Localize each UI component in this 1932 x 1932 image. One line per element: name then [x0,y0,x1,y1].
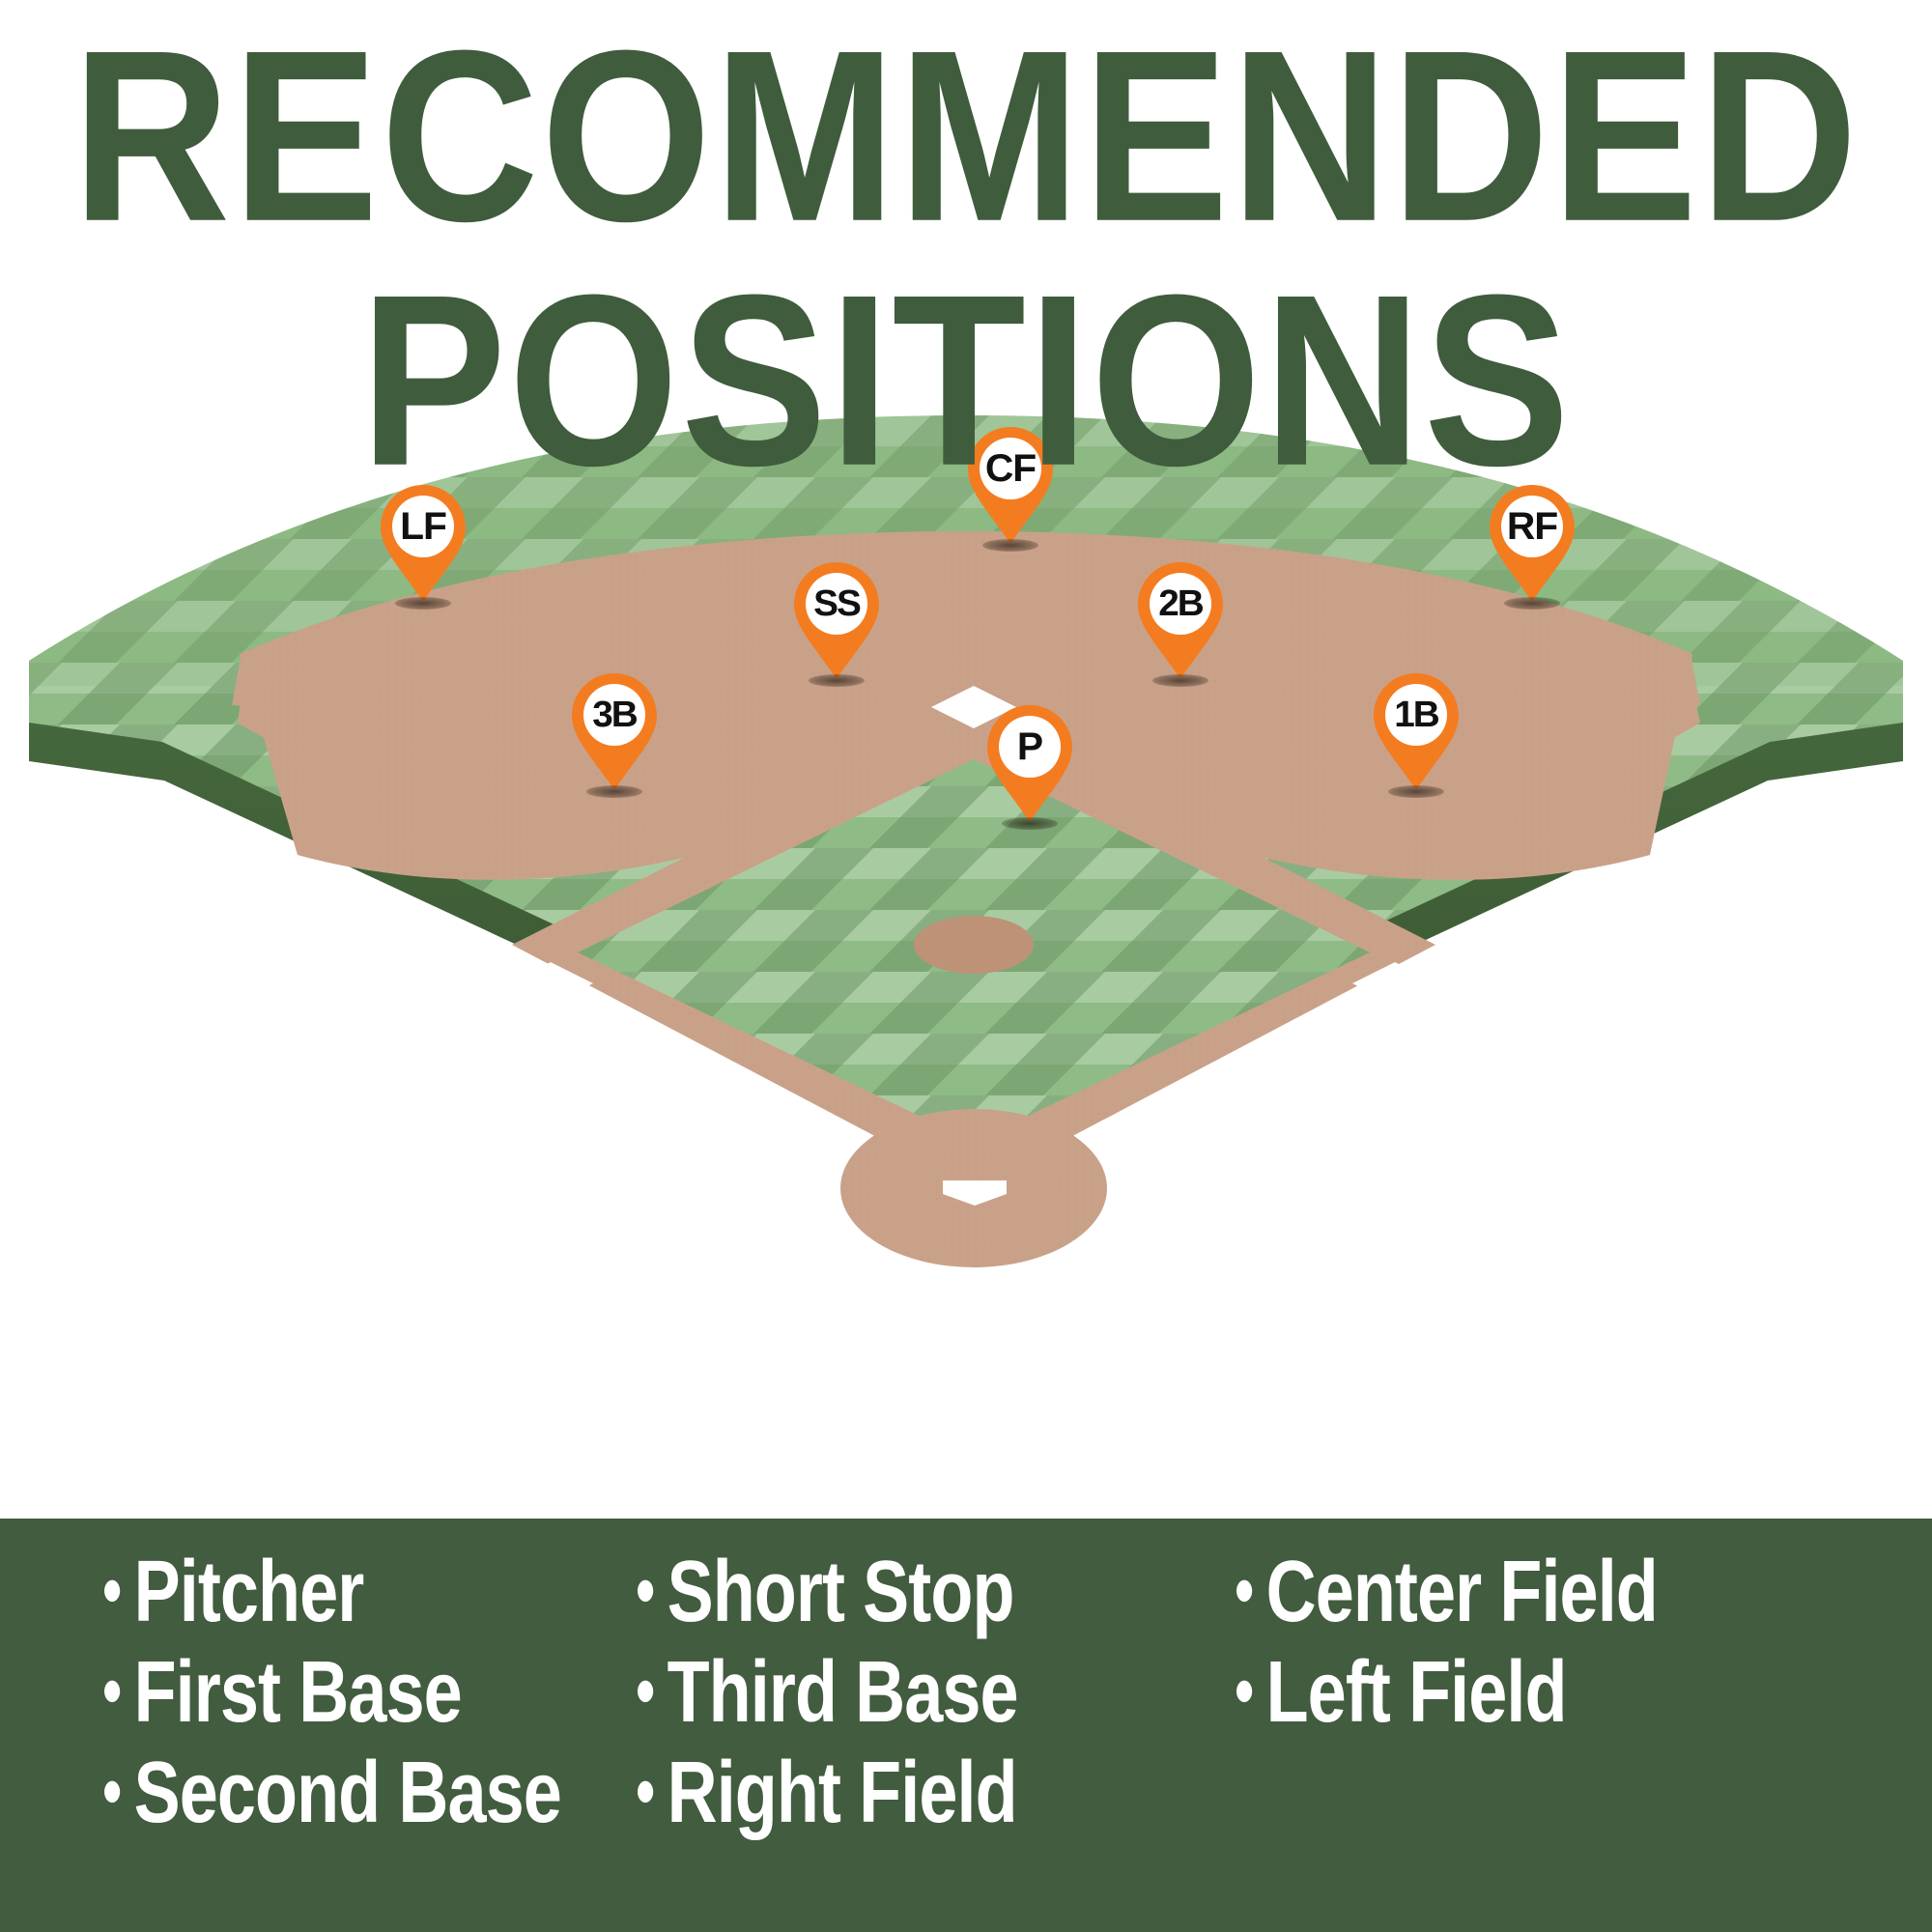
legend-item: Center Field [1236,1536,1862,1648]
position-marker-2b[interactable]: 2B [1136,560,1225,680]
marker-shadow-ss [809,674,865,687]
dot-bullet-icon [638,1580,653,1602]
marker-shadow-cf [982,539,1038,552]
marker-label-2b: 2B [1135,576,1226,632]
dot-bullet-icon [104,1580,120,1602]
marker-shadow-rf [1504,597,1560,610]
position-marker-ss[interactable]: SS [792,560,881,680]
legend-item: Short Stop [638,1536,1177,1648]
page-title: RECOMMENDED POSITIONS [0,25,1932,460]
legend-item-label: First Base [134,1636,462,1748]
marker-shadow-p [1002,817,1058,830]
legend-column-1: PitcherFirst BaseSecond Base [0,1542,638,1843]
legend-item-label: Second Base [134,1737,561,1849]
pitchers-mound [914,916,1034,974]
marker-label-1b: 1B [1371,687,1462,743]
legend-column-2: Short StopThird BaseRight Field [638,1542,1236,1843]
legend-item-label: Center Field [1266,1536,1658,1648]
legend-item: First Base [104,1636,584,1748]
marker-shadow-1b [1388,785,1444,798]
dot-bullet-icon [1236,1681,1252,1702]
dot-bullet-icon [1236,1580,1252,1602]
dot-bullet-icon [104,1681,120,1702]
dot-bullet-icon [104,1781,120,1803]
legend-item-label: Third Base [668,1636,1018,1748]
marker-shadow-3b [586,785,642,798]
dot-bullet-icon [638,1781,653,1803]
positions-legend-panel: PitcherFirst BaseSecond Base Short StopT… [0,1519,1932,1932]
legend-item-label: Pitcher [134,1536,364,1648]
marker-label-p: P [984,719,1075,775]
field-svg [0,415,1932,1507]
legend-item-label: Short Stop [668,1536,1014,1648]
legend-item-label: Left Field [1266,1636,1567,1748]
dot-bullet-icon [638,1681,653,1702]
baseball-field-illustration [0,415,1932,1507]
marker-label-3b: 3B [569,687,660,743]
position-marker-3b[interactable]: 3B [570,671,659,791]
position-marker-p[interactable]: P [985,703,1074,823]
legend-item: Right Field [638,1737,1177,1849]
legend-column-3: Center FieldLeft Field [1236,1542,1932,1743]
marker-label-ss: SS [791,576,882,632]
legend-item: Pitcher [104,1536,584,1648]
page-title-line-2: POSITIONS [0,270,1932,494]
legend-item: Third Base [638,1636,1177,1748]
marker-shadow-lf [395,597,451,610]
marker-shadow-2b [1152,674,1208,687]
position-marker-1b[interactable]: 1B [1372,671,1461,791]
legend-item: Left Field [1236,1636,1862,1748]
legend-item-label: Right Field [668,1737,1017,1849]
legend-item: Second Base [104,1737,584,1849]
page-title-line-1: RECOMMENDED [0,25,1932,249]
